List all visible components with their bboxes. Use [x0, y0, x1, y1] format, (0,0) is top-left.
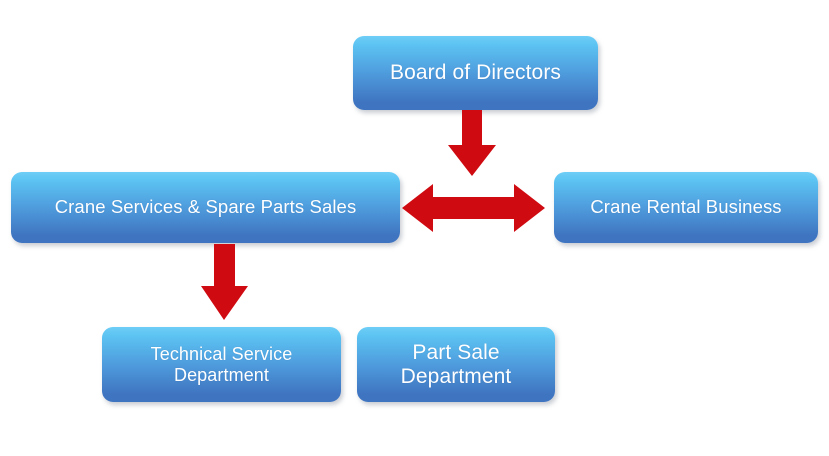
arrow-down-shape — [448, 110, 496, 176]
arrow-down-icon-services-to-technical-service — [192, 244, 258, 322]
arrow-double-horizontal-shape — [402, 184, 545, 232]
org-node-label: Crane Services & Spare Parts Sales — [55, 197, 357, 218]
org-chart-canvas: Board of Directors Crane Services & Spar… — [0, 0, 829, 456]
arrow-left-right-icon-services-to-rental — [402, 180, 545, 236]
org-node-crane-services-spare-parts-sales[interactable]: Crane Services & Spare Parts Sales — [11, 172, 400, 243]
org-node-crane-rental-business[interactable]: Crane Rental Business — [554, 172, 818, 243]
arrow-down-icon-board-to-divisions — [436, 110, 508, 178]
org-node-label: Part Sale Department — [401, 341, 512, 388]
arrow-down-shape — [201, 244, 248, 320]
org-node-label: Crane Rental Business — [590, 197, 781, 218]
org-node-board-of-directors[interactable]: Board of Directors — [353, 36, 598, 110]
org-node-label: Board of Directors — [390, 61, 561, 85]
org-node-label: Technical Service Department — [151, 344, 293, 384]
org-node-technical-service-department[interactable]: Technical Service Department — [102, 327, 341, 402]
org-node-part-sale-department[interactable]: Part Sale Department — [357, 327, 555, 402]
